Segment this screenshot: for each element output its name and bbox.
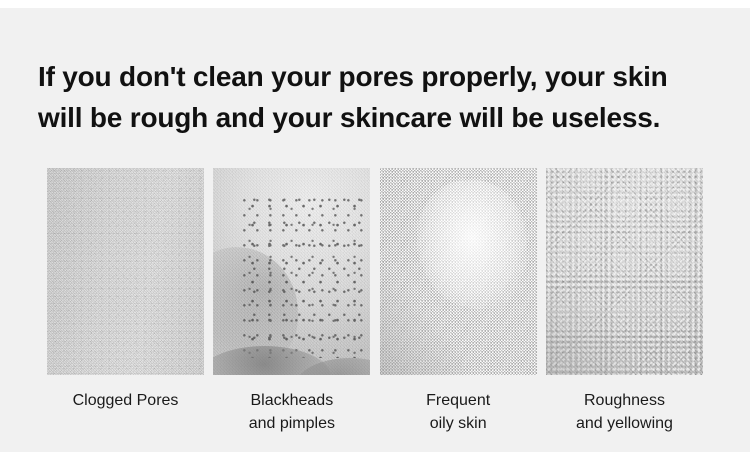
- page-root: If you don't clean your pores properly, …: [0, 0, 750, 465]
- caption-frequent-oily-skin: Frequent oily skin: [380, 389, 537, 435]
- caption-blackheads-and-pimples: Blackheads and pimples: [213, 389, 370, 435]
- photo-clogged-pores: [47, 168, 204, 375]
- photo-oily-skin: [380, 168, 537, 375]
- corner-shadow-shape: [380, 265, 463, 375]
- panel-roughness-and-yellowing: [546, 168, 703, 375]
- caption-roughness-and-yellowing: Roughness and yellowing: [546, 389, 703, 435]
- page-headline: If you don't clean your pores properly, …: [38, 56, 728, 138]
- panel-blackheads-and-pimples: [213, 168, 370, 375]
- caption-line-1: Frequent: [380, 389, 537, 412]
- caption-line-1: Blackheads: [213, 389, 370, 412]
- skin-grain-overlay: [47, 168, 204, 375]
- gallery-captions: Clogged Pores Blackheads and pimples Fre…: [47, 389, 703, 435]
- caption-line-2: and yellowing: [546, 412, 703, 435]
- photo-rough-skin: [546, 168, 703, 375]
- photo-blackheads: [213, 168, 370, 375]
- content-panel: If you don't clean your pores properly, …: [0, 8, 750, 452]
- caption-line-1: Clogged Pores: [47, 389, 204, 412]
- caption-line-2: oily skin: [380, 412, 537, 435]
- headline-line-1: If you don't clean your pores properly, …: [38, 56, 728, 97]
- caption-line-1: Roughness: [546, 389, 703, 412]
- blackhead-speckle-overlay: [242, 197, 364, 358]
- caption-line-2: and pimples: [213, 412, 370, 435]
- corner-shadow-shape: [546, 288, 632, 375]
- headline-line-2: will be rough and your skincare will be …: [38, 97, 728, 138]
- panel-clogged-pores: [47, 168, 204, 375]
- skin-condition-gallery: [47, 168, 703, 375]
- caption-clogged-pores: Clogged Pores: [47, 389, 204, 435]
- panel-frequent-oily-skin: [380, 168, 537, 375]
